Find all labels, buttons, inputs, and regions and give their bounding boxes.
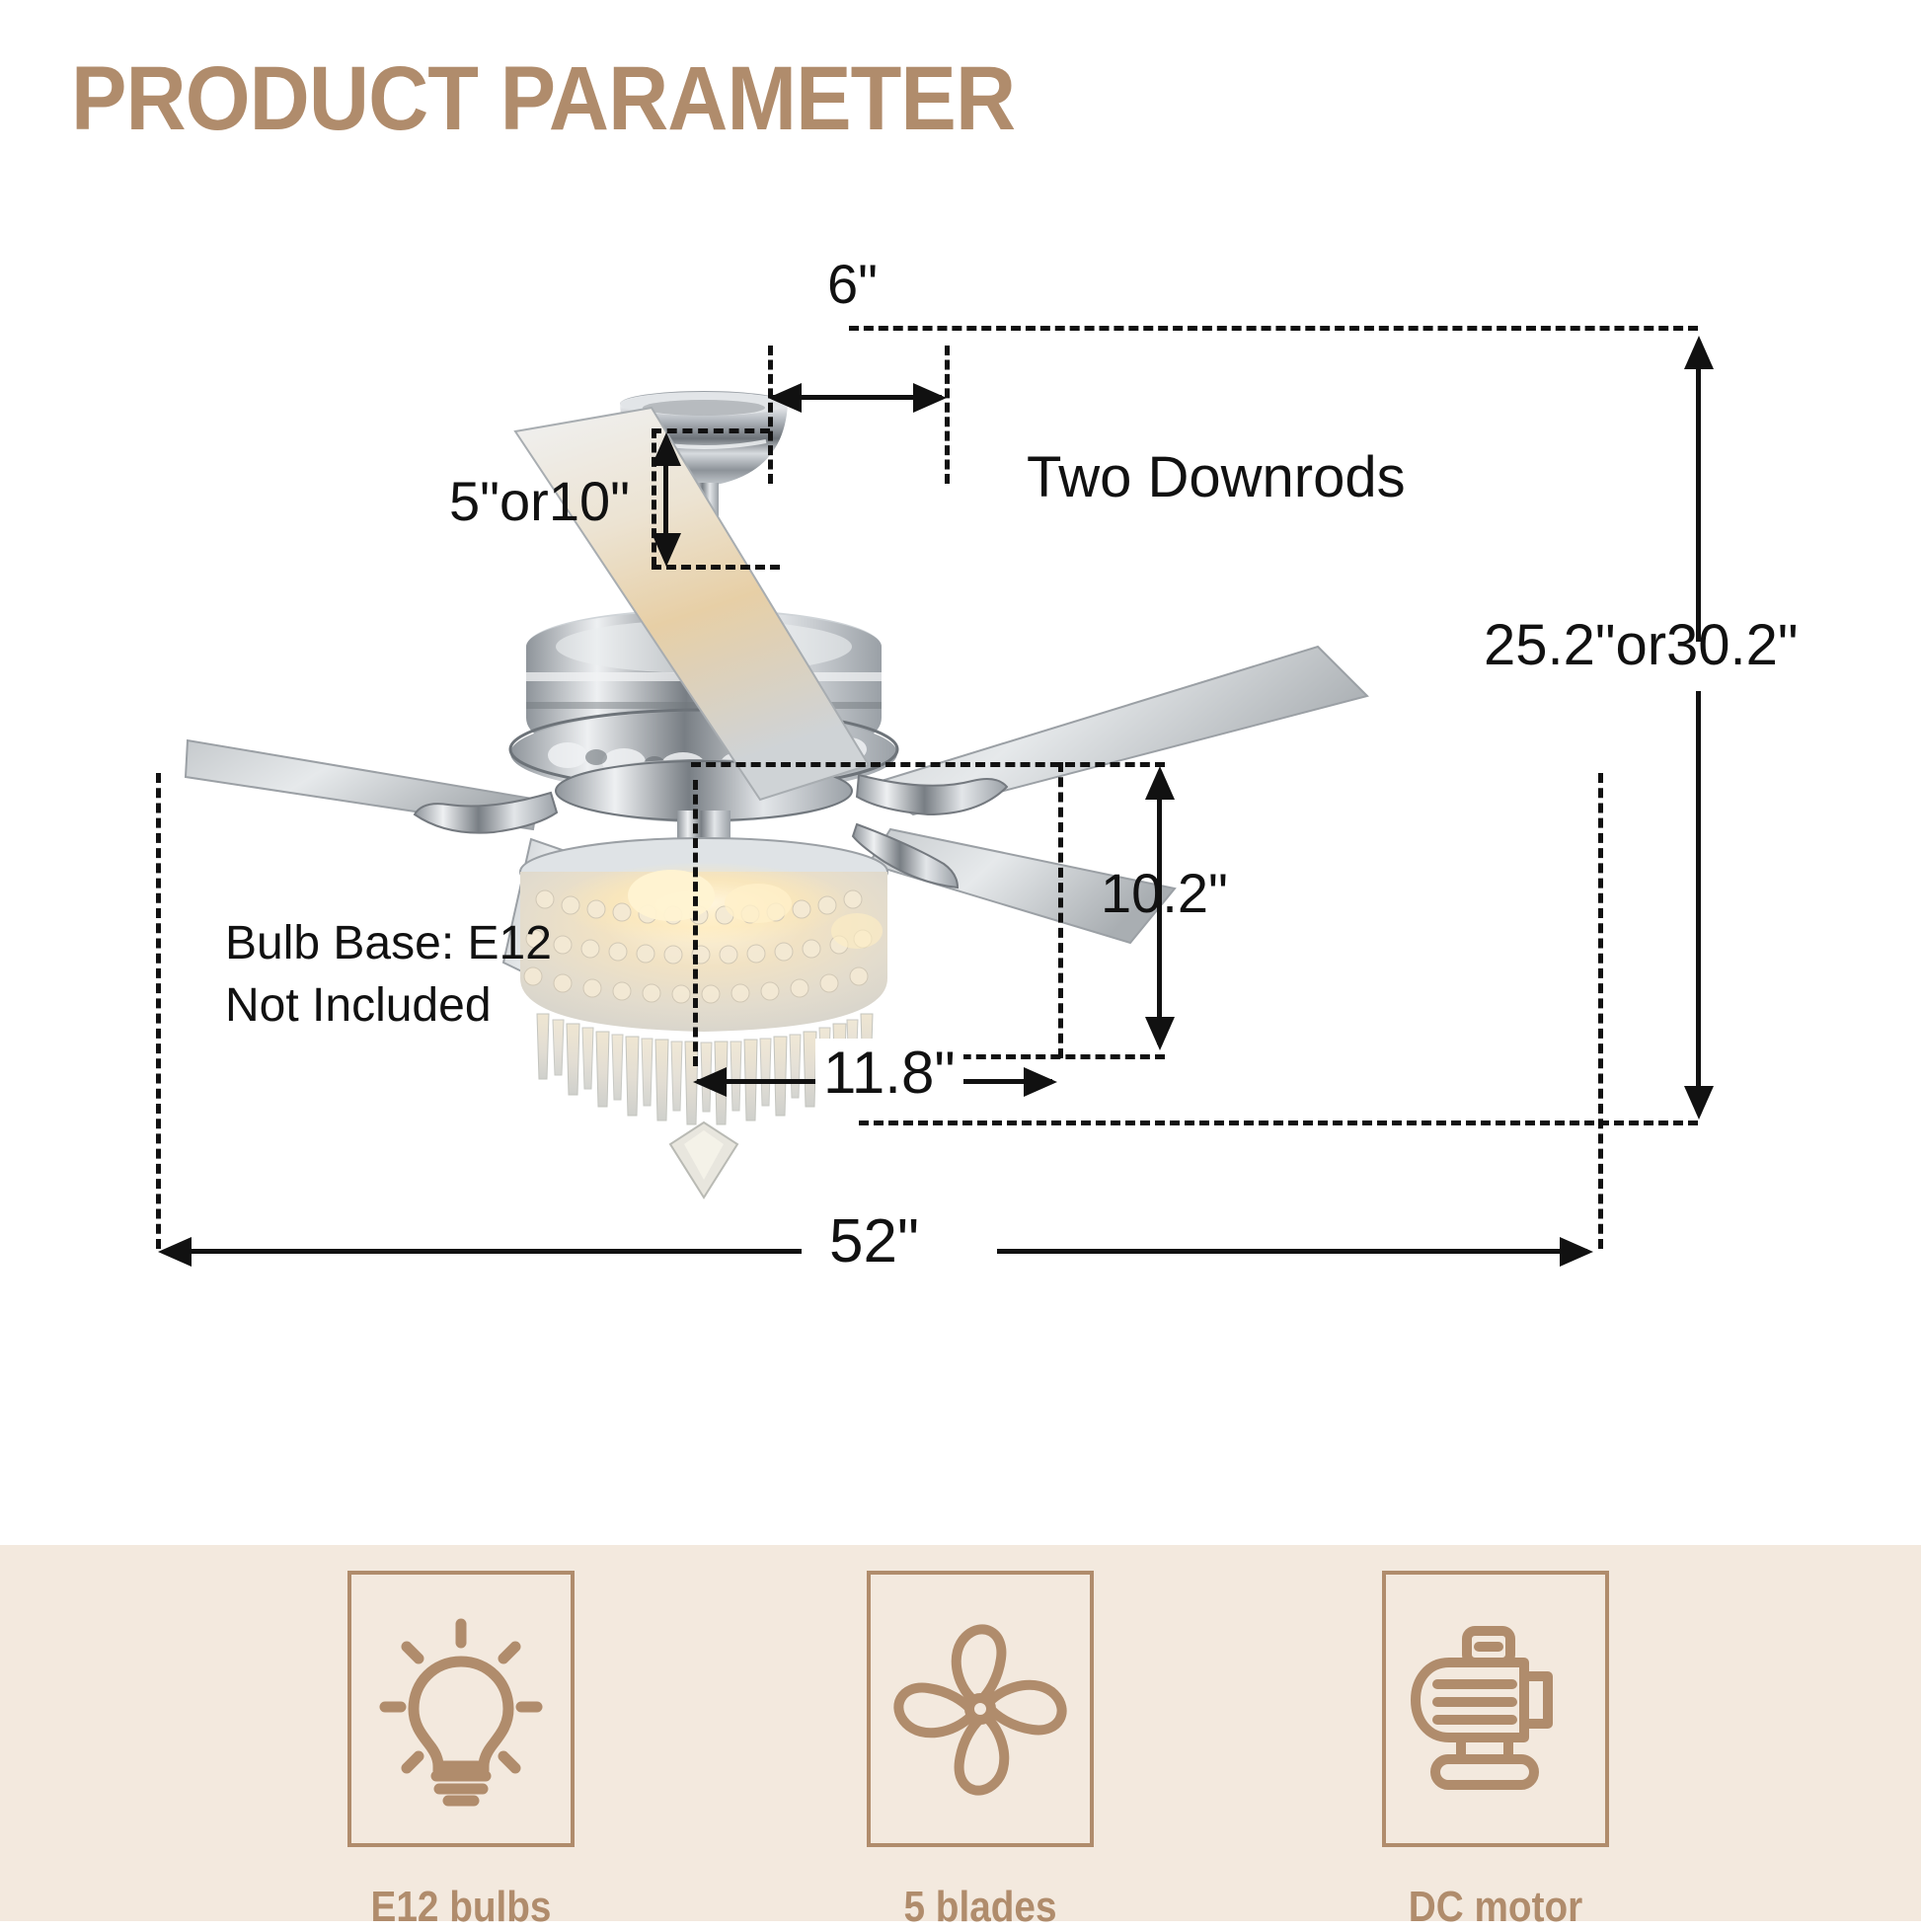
- bulb-note-line-1: Bulb Base: E12: [225, 913, 552, 973]
- dim-label-blade-span: 52": [829, 1206, 919, 1276]
- dim-line-span-left: [170, 1249, 802, 1254]
- ext-line-canopy-left: [768, 346, 773, 484]
- arrow-canopy-right: [913, 383, 947, 413]
- feature-icon-box: [1382, 1571, 1609, 1847]
- feature-icon-box: [867, 1571, 1094, 1847]
- feature-dc-motor: DC motor: [1318, 1545, 1673, 1932]
- feature-label: 5 blades: [824, 1883, 1137, 1932]
- dim-line-height-lower: [1696, 691, 1701, 1111]
- ext-line-bottom-overall: [859, 1121, 1698, 1125]
- feature-e12-bulbs: E12 bulbs: [283, 1545, 639, 1932]
- arrow-canopy-left: [768, 383, 802, 413]
- feature-label: DC motor: [1340, 1883, 1652, 1932]
- dim-label-total-height: 25.2"or30.2": [1484, 612, 1799, 678]
- ext-line-top-ceiling: [849, 326, 1698, 331]
- fan-blade-icon: [886, 1615, 1074, 1803]
- dc-motor-icon: [1402, 1615, 1589, 1803]
- ext-line-shade-w-left: [693, 780, 698, 1066]
- ext-line-canopy-right: [945, 346, 950, 484]
- dim-label-shade-width: 11.8": [815, 1039, 963, 1107]
- dim-label-shade-height: 10.2": [1101, 861, 1228, 925]
- arrow-shade-up: [1145, 766, 1175, 800]
- arrow-span-left: [158, 1237, 192, 1267]
- page-title: PRODUCT PARAMETER: [71, 47, 1015, 151]
- feature-strip: E12 bulbs 5 blades: [0, 1545, 1921, 1921]
- feature-icon-box: [347, 1571, 575, 1847]
- arrow-height-up: [1684, 336, 1714, 369]
- dim-line-height-upper: [1696, 346, 1701, 642]
- ext-line-span-right: [1598, 773, 1603, 1249]
- ext-line-span-left: [156, 773, 161, 1249]
- arrow-shade-w-right: [1024, 1067, 1057, 1097]
- dim-line-span-right: [997, 1249, 1587, 1254]
- bulb-note-line-2: Not Included: [225, 975, 492, 1036]
- arrow-span-right: [1560, 1237, 1593, 1267]
- arrow-downrod-down: [652, 533, 681, 567]
- lightbulb-icon: [377, 1610, 545, 1808]
- ext-line-shade-top: [691, 762, 1165, 767]
- dim-label-downrod-length: 5"or10": [449, 469, 630, 533]
- ext-line-shade-right: [1058, 762, 1063, 1058]
- feature-label: E12 bulbs: [305, 1883, 618, 1932]
- annotation-two-downrods: Two Downrods: [1027, 444, 1406, 510]
- feature-5-blades: 5 blades: [803, 1545, 1158, 1932]
- product-parameter-diagram: PRODUCT PARAMETER: [0, 0, 1921, 1921]
- crystal-shade: [520, 838, 887, 1198]
- dim-label-canopy-width: 6": [827, 252, 878, 316]
- arrow-downrod-up: [652, 432, 681, 466]
- arrow-shade-down: [1145, 1017, 1175, 1050]
- arrow-height-down: [1684, 1086, 1714, 1120]
- arrow-shade-w-left: [693, 1067, 727, 1097]
